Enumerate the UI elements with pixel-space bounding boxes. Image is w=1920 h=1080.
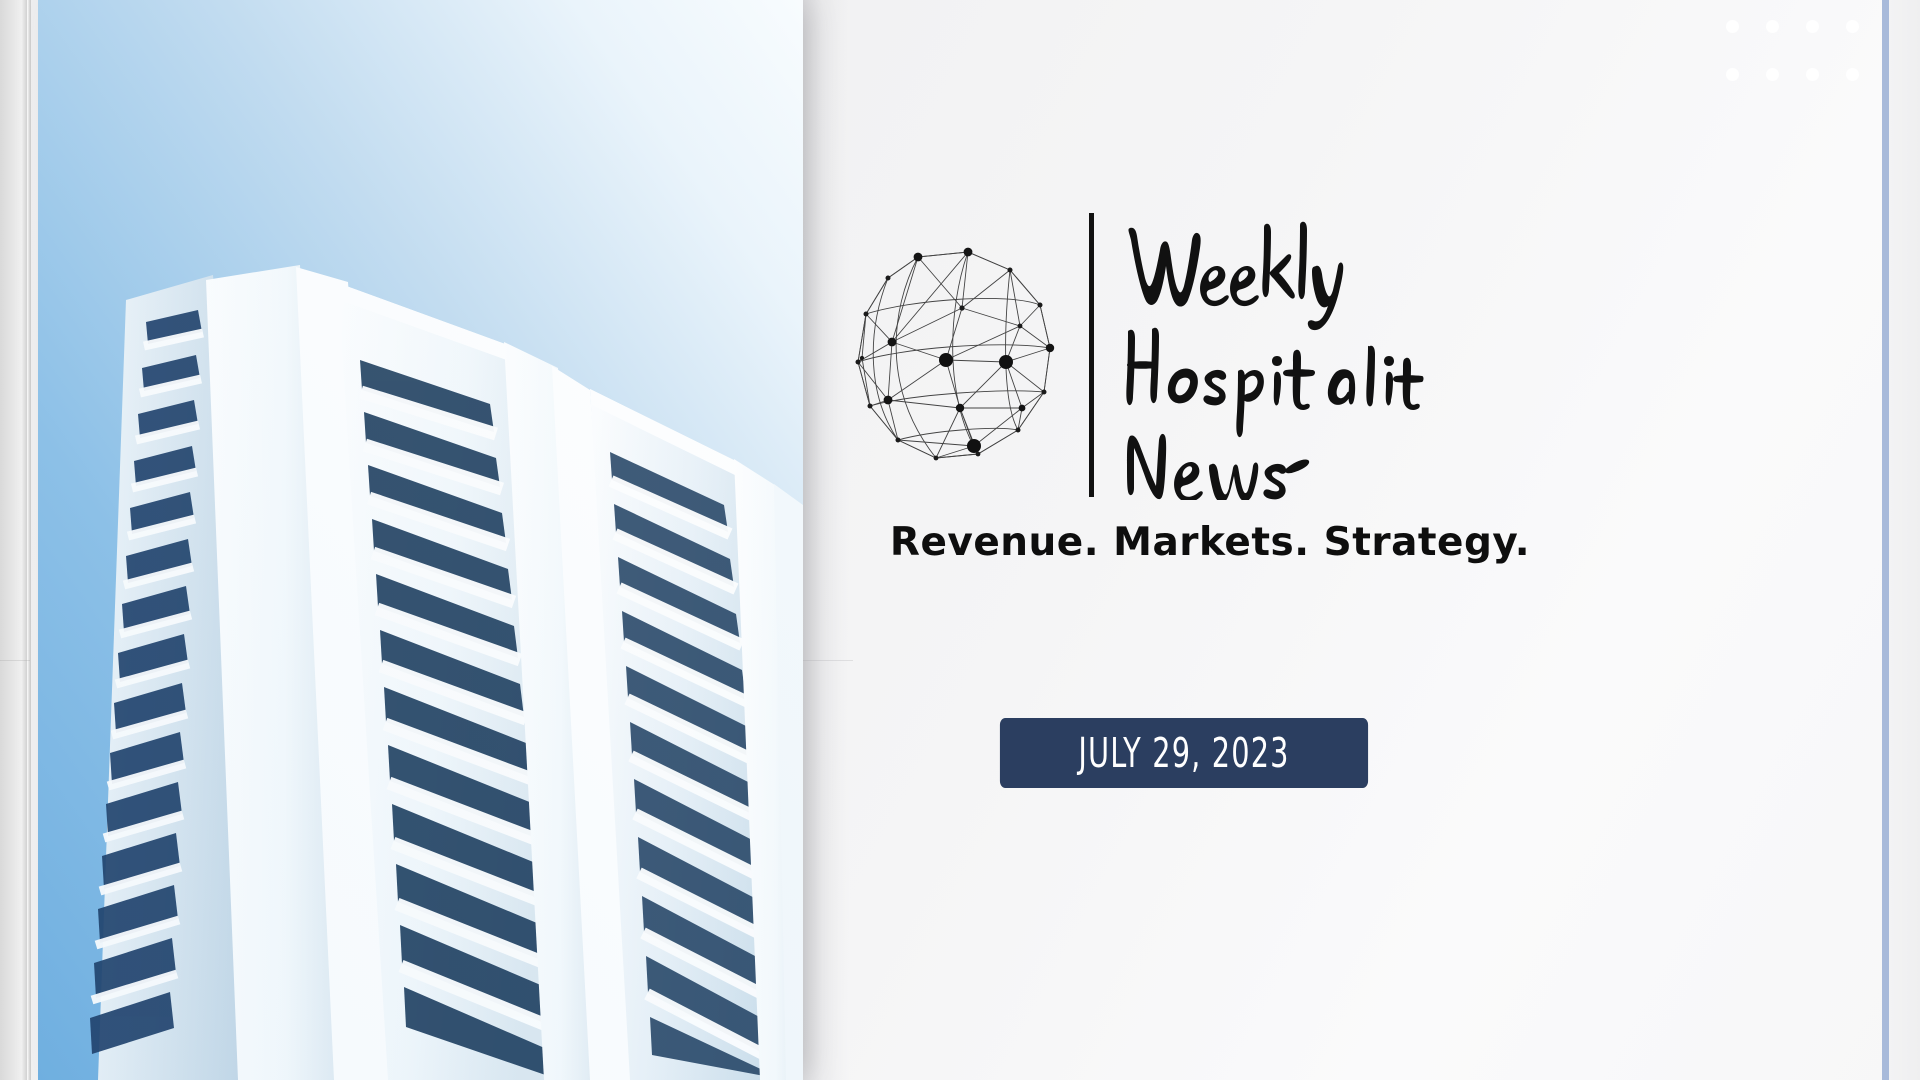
logo-divider-rule xyxy=(1089,213,1094,497)
newsletter-cover-slide: Revenue. Markets. Strategy. JULY 29, 202… xyxy=(0,0,1920,1080)
right-edge-accent-rule xyxy=(1882,0,1889,1080)
date-badge[interactable]: JULY 29, 2023 xyxy=(1000,718,1368,788)
page-edge-gutter xyxy=(0,0,30,1080)
masthead-block: Revenue. Markets. Strategy. JULY 29, 202… xyxy=(840,0,1880,1080)
page-edge-highlight xyxy=(27,0,31,1080)
logo-lockup xyxy=(840,205,1480,505)
hotel-tower-photo xyxy=(38,0,803,1080)
page-fold-hairline xyxy=(0,660,30,661)
tagline: Revenue. Markets. Strategy. xyxy=(840,520,1580,565)
wordmark xyxy=(1124,210,1424,500)
right-margin-fill xyxy=(1889,0,1920,1080)
network-sphere-icon xyxy=(840,230,1080,480)
